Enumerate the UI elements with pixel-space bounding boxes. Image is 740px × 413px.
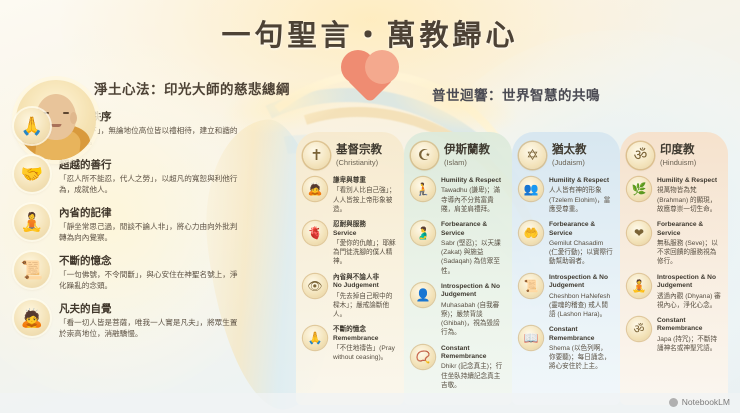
religion-name-en: (Judaism): [552, 158, 587, 167]
religion-item: 🧎Humility & RespectTawadhu (謙卑)；滿寺導內不分貧富…: [411, 177, 505, 214]
religion-item: 👁內省與不論人非No Judgement「先去掉自己眼中的樑木」；嚴戒論斷他人。: [303, 274, 397, 320]
religion-item: ❤Forbearance & Service無私服務 (Seve)；以不求回饋的…: [627, 221, 721, 267]
open-book-icon: 📖: [519, 326, 543, 350]
prayer-beads-icon: 📿: [411, 345, 435, 369]
scroll-icon-glyph: 📜: [21, 260, 43, 281]
religion-item: 🤲Forbearance & ServiceGemilut Chasadim (…: [519, 221, 613, 267]
religion-item: 🧘Introspection & No Judgement透過內觀 (Dhyan…: [627, 274, 721, 310]
left-item-title: 不斷的憶念: [59, 253, 239, 268]
religion-item: 🌿Humility & Respect視萬物皆為梵 (Brahman) 的顯現，…: [627, 177, 721, 214]
kneeling-prayer-icon: 🧎: [411, 177, 435, 201]
left-item-title: 內省的記律: [59, 205, 239, 220]
kneeling-prayer-icon-glyph: 🧎: [416, 182, 431, 196]
washing-feet-icon-glyph: 🫀: [308, 226, 323, 240]
religion-item-title: Forbearance & Service: [441, 221, 505, 238]
religion-item-title: Constant Remembrance: [549, 326, 613, 343]
torah-scroll-icon: 📜: [519, 274, 543, 298]
religion-header: ☪伊斯蘭教(Islam): [411, 142, 505, 169]
person-silhouette-icon: 👤: [411, 283, 435, 307]
religion-item-title: Forbearance & Service: [657, 221, 721, 238]
religion-column-islam: ☪伊斯蘭教(Islam)🧎Humility & RespectTawadhu (…: [404, 132, 512, 405]
cross-icon-glyph: ✝: [310, 148, 323, 163]
kneeling-figure-icon: 🙇: [303, 177, 327, 201]
religion-item: 🫃Forbearance & ServiceSabr (堅忍)；以天課 (Zak…: [411, 221, 505, 276]
washing-feet-icon: 🫀: [303, 221, 327, 245]
person-silhouette-icon-glyph: 👤: [416, 288, 431, 302]
helping-person-icon-glyph: 🤝: [21, 164, 43, 185]
religion-item-desc: 「先去掉自己眼中的樑木」；嚴戒論斷他人。: [333, 292, 397, 320]
cross-icon: ✝: [303, 142, 330, 169]
religion-name-en: (Islam): [444, 158, 490, 167]
prayer-beads-icon-glyph: 📿: [416, 350, 431, 364]
religion-item-desc: Gemilut Chasadim (仁愛行動)；以實際行動幫助弱者。: [549, 239, 613, 267]
watermark-label: NotebookLM: [682, 397, 730, 407]
scroll-icon: 📜: [14, 252, 50, 288]
religion-item-title: 內省與不論人非No Judgement: [333, 274, 397, 291]
star-of-david-icon-glyph: ✡: [526, 148, 539, 163]
left-item-desc: 「忍人所不能忍，代人之勞」，以超凡的寬恕與利他行為，成就他人。: [59, 173, 239, 195]
helping-person-icon: 🤝: [14, 156, 50, 192]
religion-item-desc: 「不住地禱告」(Pray without ceasing)。: [333, 344, 397, 362]
religion-item-title: Introspection & No Judgement: [441, 283, 505, 300]
hand-coin-icon-glyph: 🫃: [416, 226, 431, 240]
om-icon-glyph: ॐ: [634, 320, 645, 337]
left-item-desc: 「一句佛號，不令間斷」，與心安住在神聖名號上，淨化躁亂的念頭。: [59, 269, 239, 291]
religion-name: 基督宗教: [336, 144, 382, 157]
crescent-star-icon-glyph: ☪: [418, 148, 431, 163]
religion-item: 🙏不斷的憶念Remembrance「不住地禱告」(Pray without ce…: [303, 326, 397, 362]
left-item: 📜不斷的憶念「一句佛號，不令間斷」，與心安住在神聖名號上，淨化躁亂的念頭。: [14, 252, 294, 291]
bowing-figures-icon: 🙇: [14, 300, 50, 336]
meditating-figure-icon: 🧘: [14, 204, 50, 240]
crescent-star-icon: ☪: [411, 142, 438, 169]
eye-crossed-icon: 👁: [303, 274, 327, 298]
left-panel-heading: 淨土心法：印光大師的慈悲總綱: [94, 78, 294, 98]
om-icon: ॐ: [627, 142, 654, 169]
two-people-icon: 👥: [519, 177, 543, 201]
religion-name: 印度教: [660, 144, 696, 157]
religion-item-desc: Dhikr (記念真主)；行住坐臥持續記念真主吉敬。: [441, 362, 505, 390]
footer-bar: [0, 393, 740, 413]
open-book-icon-glyph: 📖: [524, 331, 539, 345]
religion-item: 🫀忍耐與服務Service「愛你的仇敵」；耶穌為門徒洗腳的僕人精神。: [303, 221, 397, 267]
religion-item-desc: Cheshbon HaNefesh (靈魂的稽查) 戒人閒語 (Lashon H…: [549, 292, 613, 320]
eye-crossed-icon-glyph: 👁: [307, 279, 322, 293]
religion-item: 👥Humility & Respect人人皆有神的形象 (Tzelem Eloh…: [519, 177, 613, 214]
religion-item-desc: 無私服務 (Seve)；以不求回饋的服務視為修行。: [657, 239, 721, 267]
religion-name-en: (Hinduism): [660, 158, 696, 167]
two-people-icon-glyph: 👥: [524, 182, 539, 196]
religion-item-desc: Tawadhu (謙卑)；滿寺導內不分貧富貴賤，肩並肩禮拜。: [441, 186, 505, 214]
heart-icon: [346, 55, 394, 103]
religion-item-title: Constant Remembrance: [441, 345, 505, 362]
hand-heart-icon: ❤: [627, 221, 651, 245]
religion-item-title: Introspection & No Judgement: [549, 274, 613, 291]
religion-column-hinduism: ॐ印度教(Hinduism)🌿Humility & Respect視萬物皆為梵 …: [620, 132, 728, 405]
left-item: 🤝超越的善行「忍人所不能忍，代人之勞」，以超凡的寬恕與利他行為，成就他人。: [14, 156, 294, 195]
religion-item: 👤Introspection & No JudgementMuhasabah (…: [411, 283, 505, 338]
meditating-yogi-icon-glyph: 🧘: [632, 279, 647, 293]
praying-hands-icon: 🙏: [14, 108, 50, 144]
helping-hands-icon: 🤲: [519, 221, 543, 245]
religion-item: 📿Constant RemembranceDhikr (記念真主)；行住坐臥持續…: [411, 345, 505, 391]
religion-item-title: 不斷的憶念Remembrance: [333, 326, 397, 343]
religion-columns: ✝基督宗教(Christianity)🙇謙卑與尊重「看別人比自己強」；人人皆按上…: [296, 132, 728, 405]
religion-item-desc: Sabr (堅忍)；以天課 (Zakat) 與施益 (Sadaqah) 為信眾至…: [441, 239, 505, 276]
left-item-desc: 「看一切人皆是菩薩，唯我一人實是凡夫」，將眾生置於崇高地位，消融驕慢。: [59, 317, 239, 339]
praying-hands-icon: 🙏: [303, 326, 327, 350]
star-of-david-icon: ✡: [519, 142, 546, 169]
religion-item-title: 忍耐與服務Service: [333, 221, 397, 238]
religion-name-en: (Christianity): [336, 158, 382, 167]
hand-coin-icon: 🫃: [411, 221, 435, 245]
religion-item-title: Humility & Respect: [549, 177, 613, 185]
religion-item-title: Introspection & No Judgement: [657, 274, 721, 291]
religion-item-desc: 人人皆有神的形象 (Tzelem Elohim)，當應受尊重。: [549, 186, 613, 214]
page-title: 一句聖言・萬教歸心: [0, 12, 740, 54]
religion-header: ॐ印度教(Hinduism): [627, 142, 721, 169]
left-item-desc: 「靜坐常思己過，閒談不論人非」，將心力由向外批判轉為向內覺察。: [59, 221, 239, 243]
religion-name: 猶太教: [552, 144, 587, 157]
left-item: 🙇凡夫的自覺「看一切人皆是菩薩，唯我一人實是凡夫」，將眾生置於崇高地位，消融驕慢…: [14, 300, 294, 339]
hand-plant-icon: 🌿: [627, 177, 651, 201]
religion-item-desc: 「看別人比自己強」；人人皆按上帝形象被造。: [333, 186, 397, 214]
religion-item-title: Humility & Respect: [657, 177, 721, 185]
religion-column-judaism: ✡猶太教(Judaism)👥Humility & Respect人人皆有神的形象…: [512, 132, 620, 405]
religion-header: ✡猶太教(Judaism): [519, 142, 613, 169]
religion-column-christianity: ✝基督宗教(Christianity)🙇謙卑與尊重「看別人比自己強」；人人皆按上…: [296, 132, 404, 405]
religion-item-title: Humility & Respect: [441, 177, 505, 185]
religion-header: ✝基督宗教(Christianity): [303, 142, 397, 169]
praying-hands-icon-glyph: 🙏: [21, 116, 43, 137]
praying-hands-icon-glyph: 🙏: [308, 331, 323, 345]
right-panel-heading: 普世迴響：世界智慧的共鳴: [432, 84, 600, 104]
helping-hands-icon-glyph: 🤲: [524, 226, 539, 240]
religion-item-desc: Japa (持咒)；不斷持誦神名或神聖咒語。: [657, 335, 721, 353]
religion-item-desc: 視萬物皆為梵 (Brahman) 的顯現，故應尊崇一切生命。: [657, 186, 721, 214]
religion-item-desc: Muhasabah (自我審察)；嚴禁背談 (Ghibah)，視為毀謗行為。: [441, 301, 505, 338]
torah-scroll-icon-glyph: 📜: [524, 279, 539, 293]
hand-heart-icon-glyph: ❤: [634, 226, 644, 240]
bowing-figures-icon-glyph: 🙇: [21, 308, 43, 329]
left-item: 🧘內省的記律「靜坐常思己過，閒談不論人非」，將心力由向外批判轉為向內覺察。: [14, 204, 294, 243]
religion-item-title: Constant Remembrance: [657, 317, 721, 334]
religion-item-desc: 透過內觀 (Dhyana) 審視內心，淨化心念。: [657, 292, 721, 310]
religion-item: ॐConstant RemembranceJapa (持咒)；不斷持誦神名或神聖…: [627, 317, 721, 353]
religion-item-title: 謙卑與尊重: [333, 177, 397, 185]
religion-item-desc: Shema (以色列啊，你要聽)；每日誦念，將心安住於上主。: [549, 344, 613, 372]
religion-item-desc: 「愛你的仇敵」；耶穌為門徒洗腳的僕人精神。: [333, 239, 397, 267]
meditating-yogi-icon: 🧘: [627, 274, 651, 298]
hand-plant-icon-glyph: 🌿: [632, 182, 647, 196]
om-icon-glyph: ॐ: [634, 148, 648, 163]
religion-item: 🙇謙卑與尊重「看別人比自己強」；人人皆按上帝形象被造。: [303, 177, 397, 214]
religion-item-title: Forbearance & Service: [549, 221, 613, 238]
meditating-figure-icon-glyph: 🧘: [21, 212, 43, 233]
religion-name: 伊斯蘭教: [444, 144, 490, 157]
kneeling-figure-icon-glyph: 🙇: [308, 182, 323, 196]
left-item-title: 凡夫的自覺: [59, 301, 239, 316]
left-panel: 淨土心法：印光大師的慈悲總綱 🙏謙卑的秩序「敬上和下」，無論地位高位皆以禮相待，…: [8, 78, 294, 348]
notebooklm-watermark: NotebookLM: [669, 397, 730, 407]
religion-item: 📜Introspection & No JudgementCheshbon Ha…: [519, 274, 613, 320]
om-icon: ॐ: [627, 317, 651, 341]
religion-item: 📖Constant RemembranceShema (以色列啊，你要聽)；每日…: [519, 326, 613, 372]
notebooklm-logo-icon: [669, 398, 678, 407]
